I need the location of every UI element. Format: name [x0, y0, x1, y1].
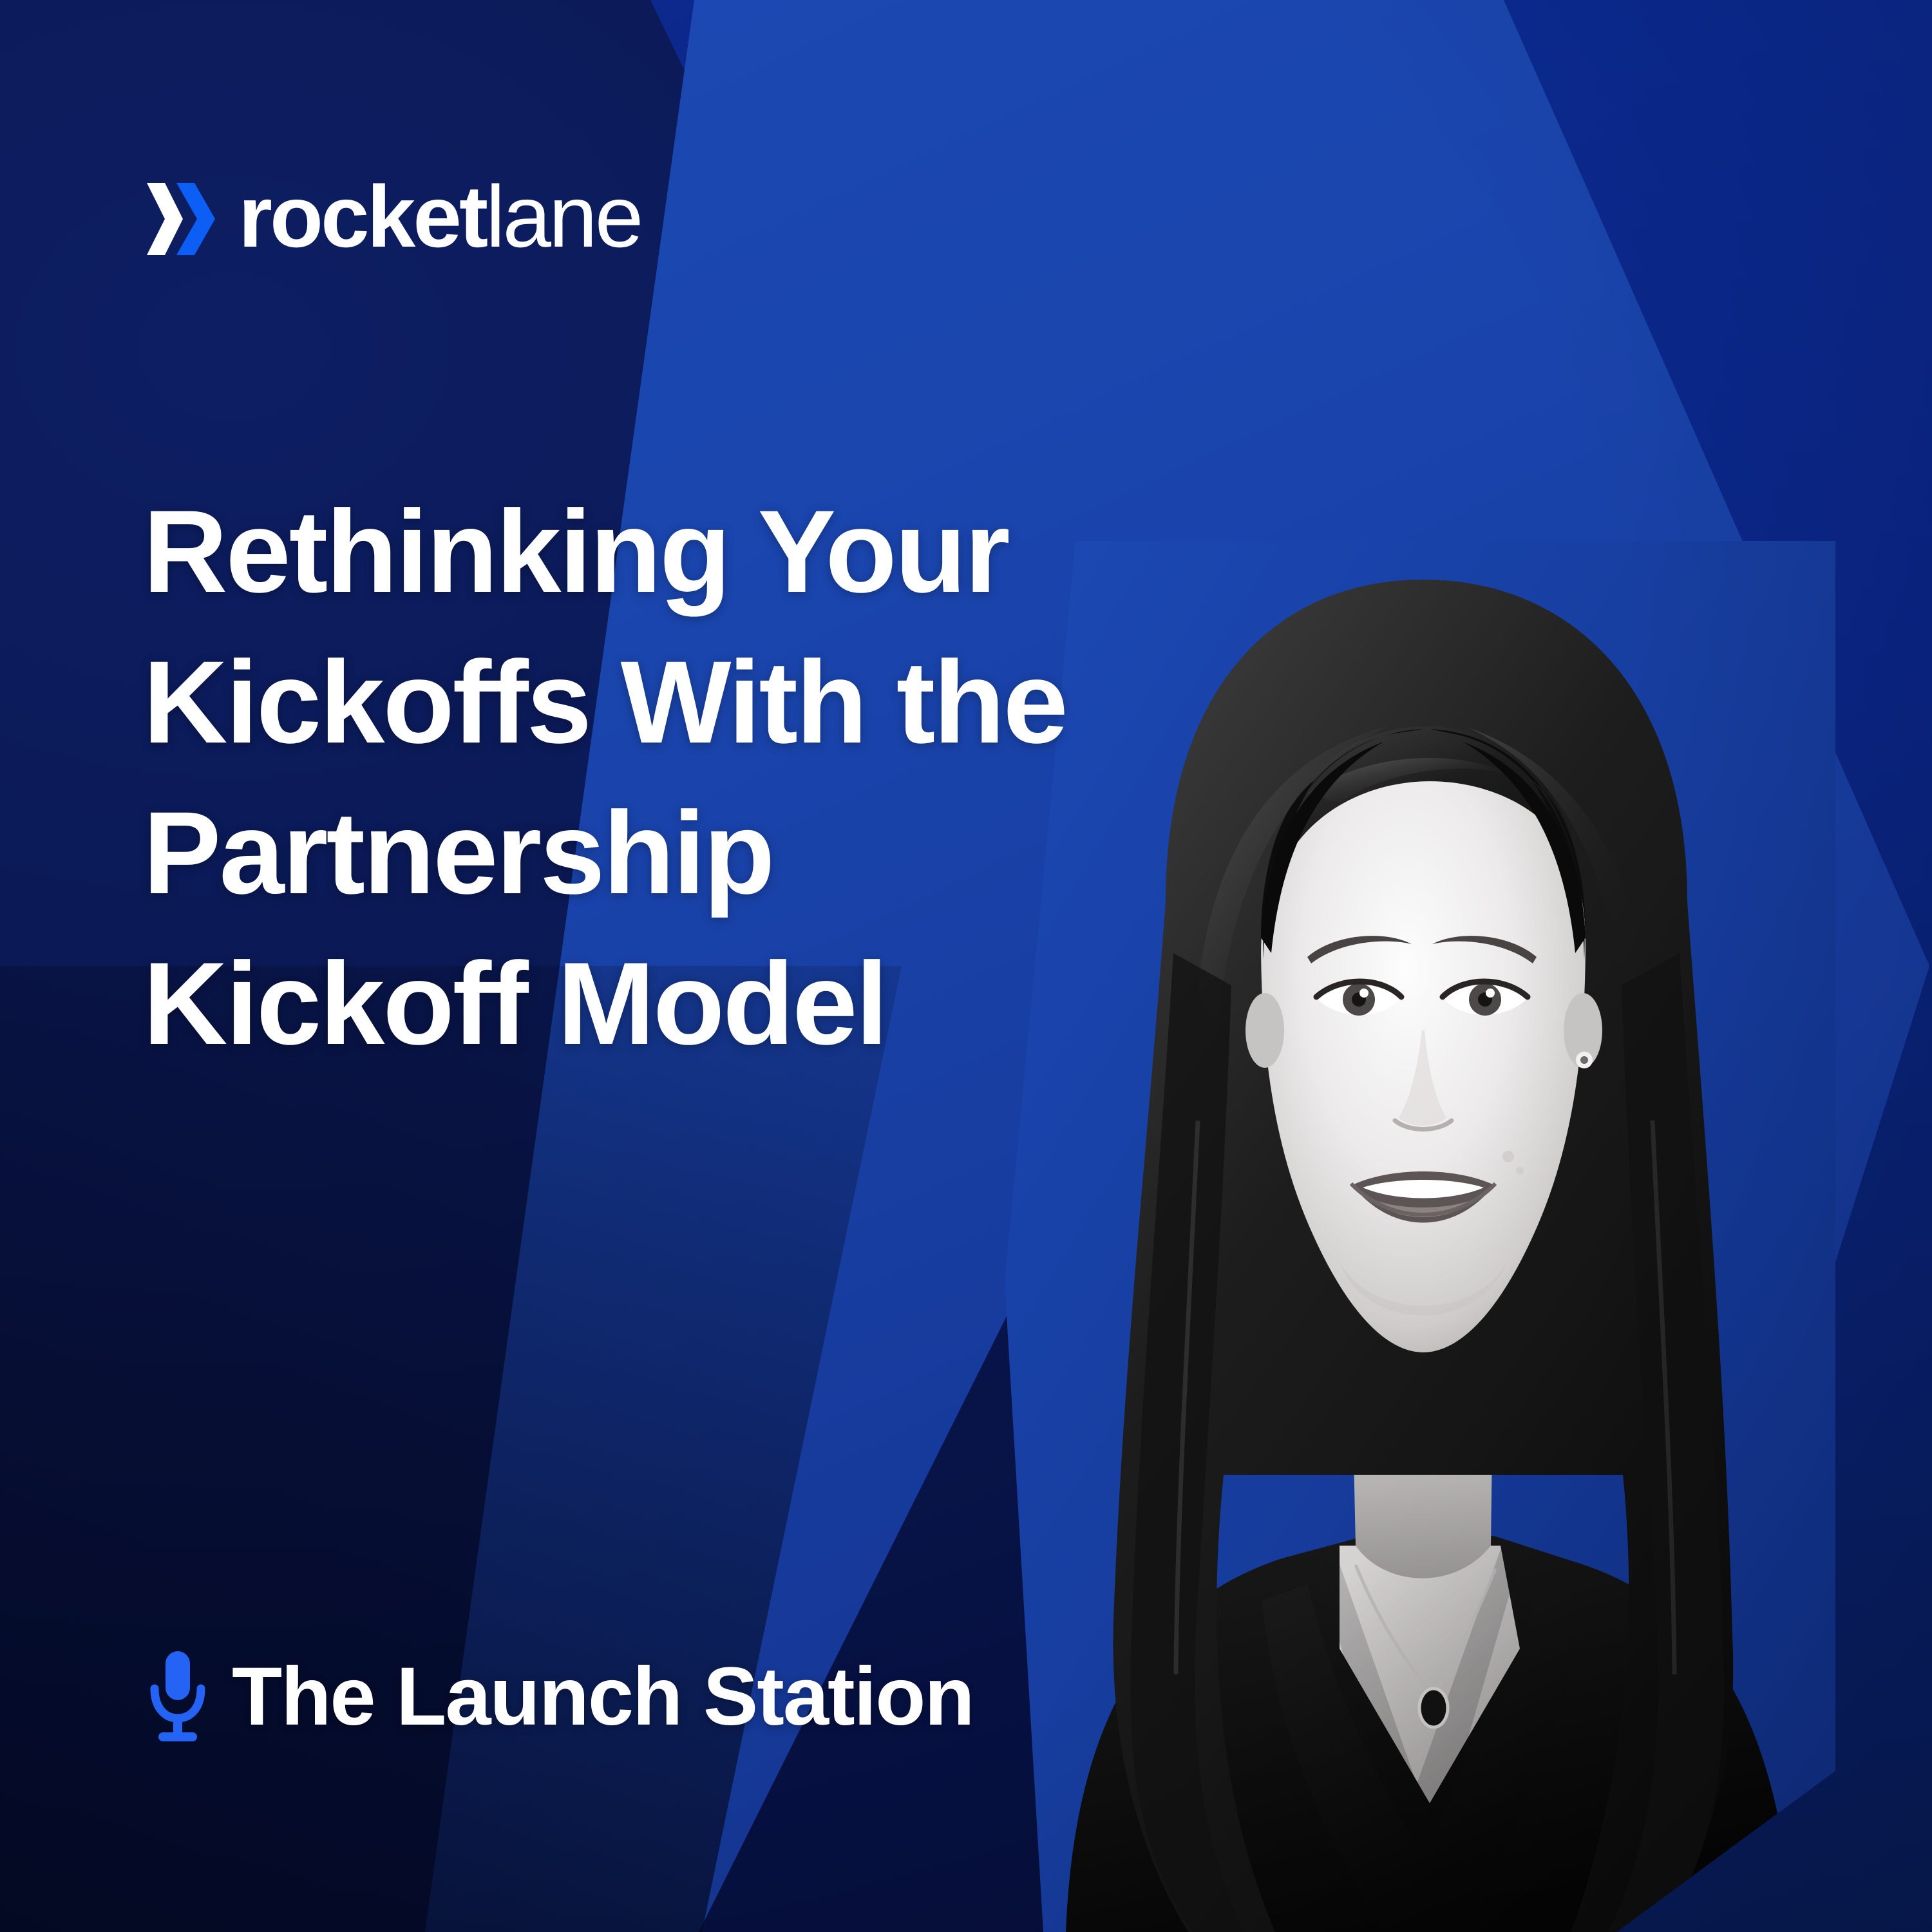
show-name-row: The Launch Station: [147, 1649, 974, 1745]
title-line-2: Kickoffs With the: [143, 627, 1354, 778]
rocketlane-wordmark: rocketlane: [238, 173, 641, 260]
show-name: The Launch Station: [232, 1656, 974, 1738]
rocketlane-logo[interactable]: rocketlane: [143, 175, 641, 263]
title-line-1: Rethinking Your: [143, 477, 1354, 627]
logo-word-rocket: rocket: [238, 167, 486, 265]
episode-title: Rethinking Your Kickoffs With the Partne…: [143, 477, 1354, 1079]
title-line-4: Kickoff Model: [143, 929, 1354, 1079]
double-chevron-logo-mark: [143, 179, 219, 259]
microphone-icon: [147, 1649, 209, 1745]
title-line-3: Partnership: [143, 778, 1354, 929]
logo-word-lane: lane: [486, 167, 641, 265]
podcast-cover: rocketlane Rethinking Your Kickoffs With…: [0, 0, 1932, 1932]
